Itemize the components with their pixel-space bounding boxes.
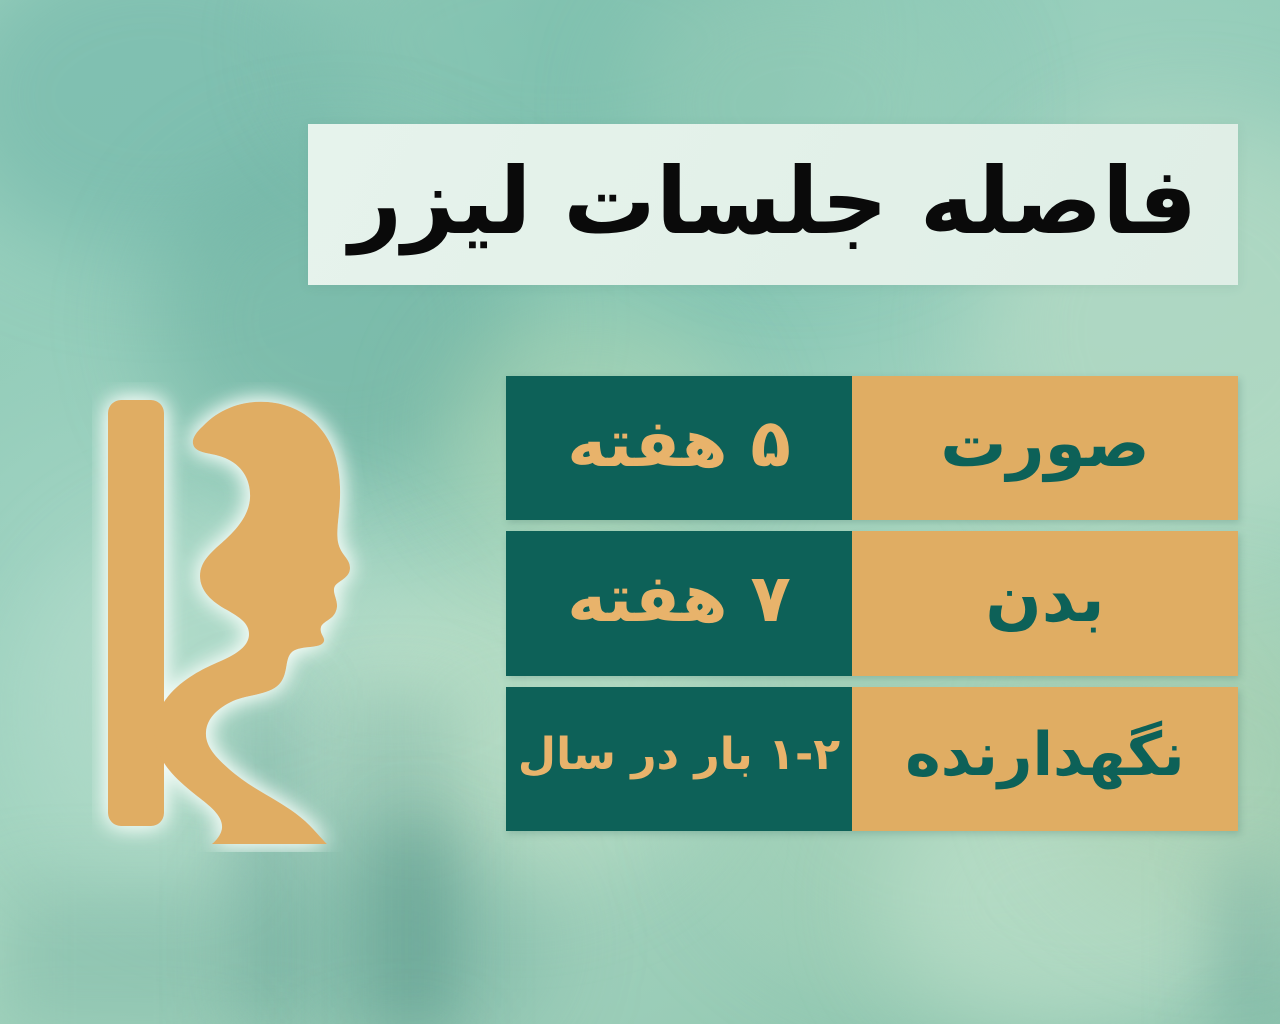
row-label-text: بدن [985, 566, 1104, 632]
table-cell-value: ۷ هفته [506, 531, 852, 675]
table-cell-value: ۱-۲ بار در سال [506, 687, 852, 831]
title-banner: فاصله جلسات لیزر [308, 124, 1238, 285]
laser-interval-table: صورت ۵ هفته بدن ۷ هفته نگهدارنده ۱-۲ بار… [506, 376, 1238, 831]
row-value-text: ۵ هفته [567, 411, 791, 477]
poster-root: فاصله جلسات لیزر [0, 0, 1280, 1024]
background-streak [1218, 860, 1278, 1024]
row-label-text: صورت [940, 411, 1149, 477]
row-value-text: ۱-۲ بار در سال [518, 733, 840, 777]
background-streak [0, 880, 230, 1024]
row-value-text: ۷ هفته [567, 566, 791, 632]
table-cell-label: نگهدارنده [852, 687, 1238, 831]
row-label-text: نگهدارنده [905, 725, 1184, 785]
table-row: نگهدارنده ۱-۲ بار در سال [506, 687, 1238, 831]
table-cell-label: صورت [852, 376, 1238, 520]
page-title: فاصله جلسات لیزر [349, 156, 1197, 248]
table-row: بدن ۷ هفته [506, 531, 1238, 675]
table-cell-value: ۵ هفته [506, 376, 852, 520]
table-cell-label: بدن [852, 531, 1238, 675]
table-row: صورت ۵ هفته [506, 376, 1238, 520]
clinic-logo-r-face-icon [92, 382, 437, 852]
